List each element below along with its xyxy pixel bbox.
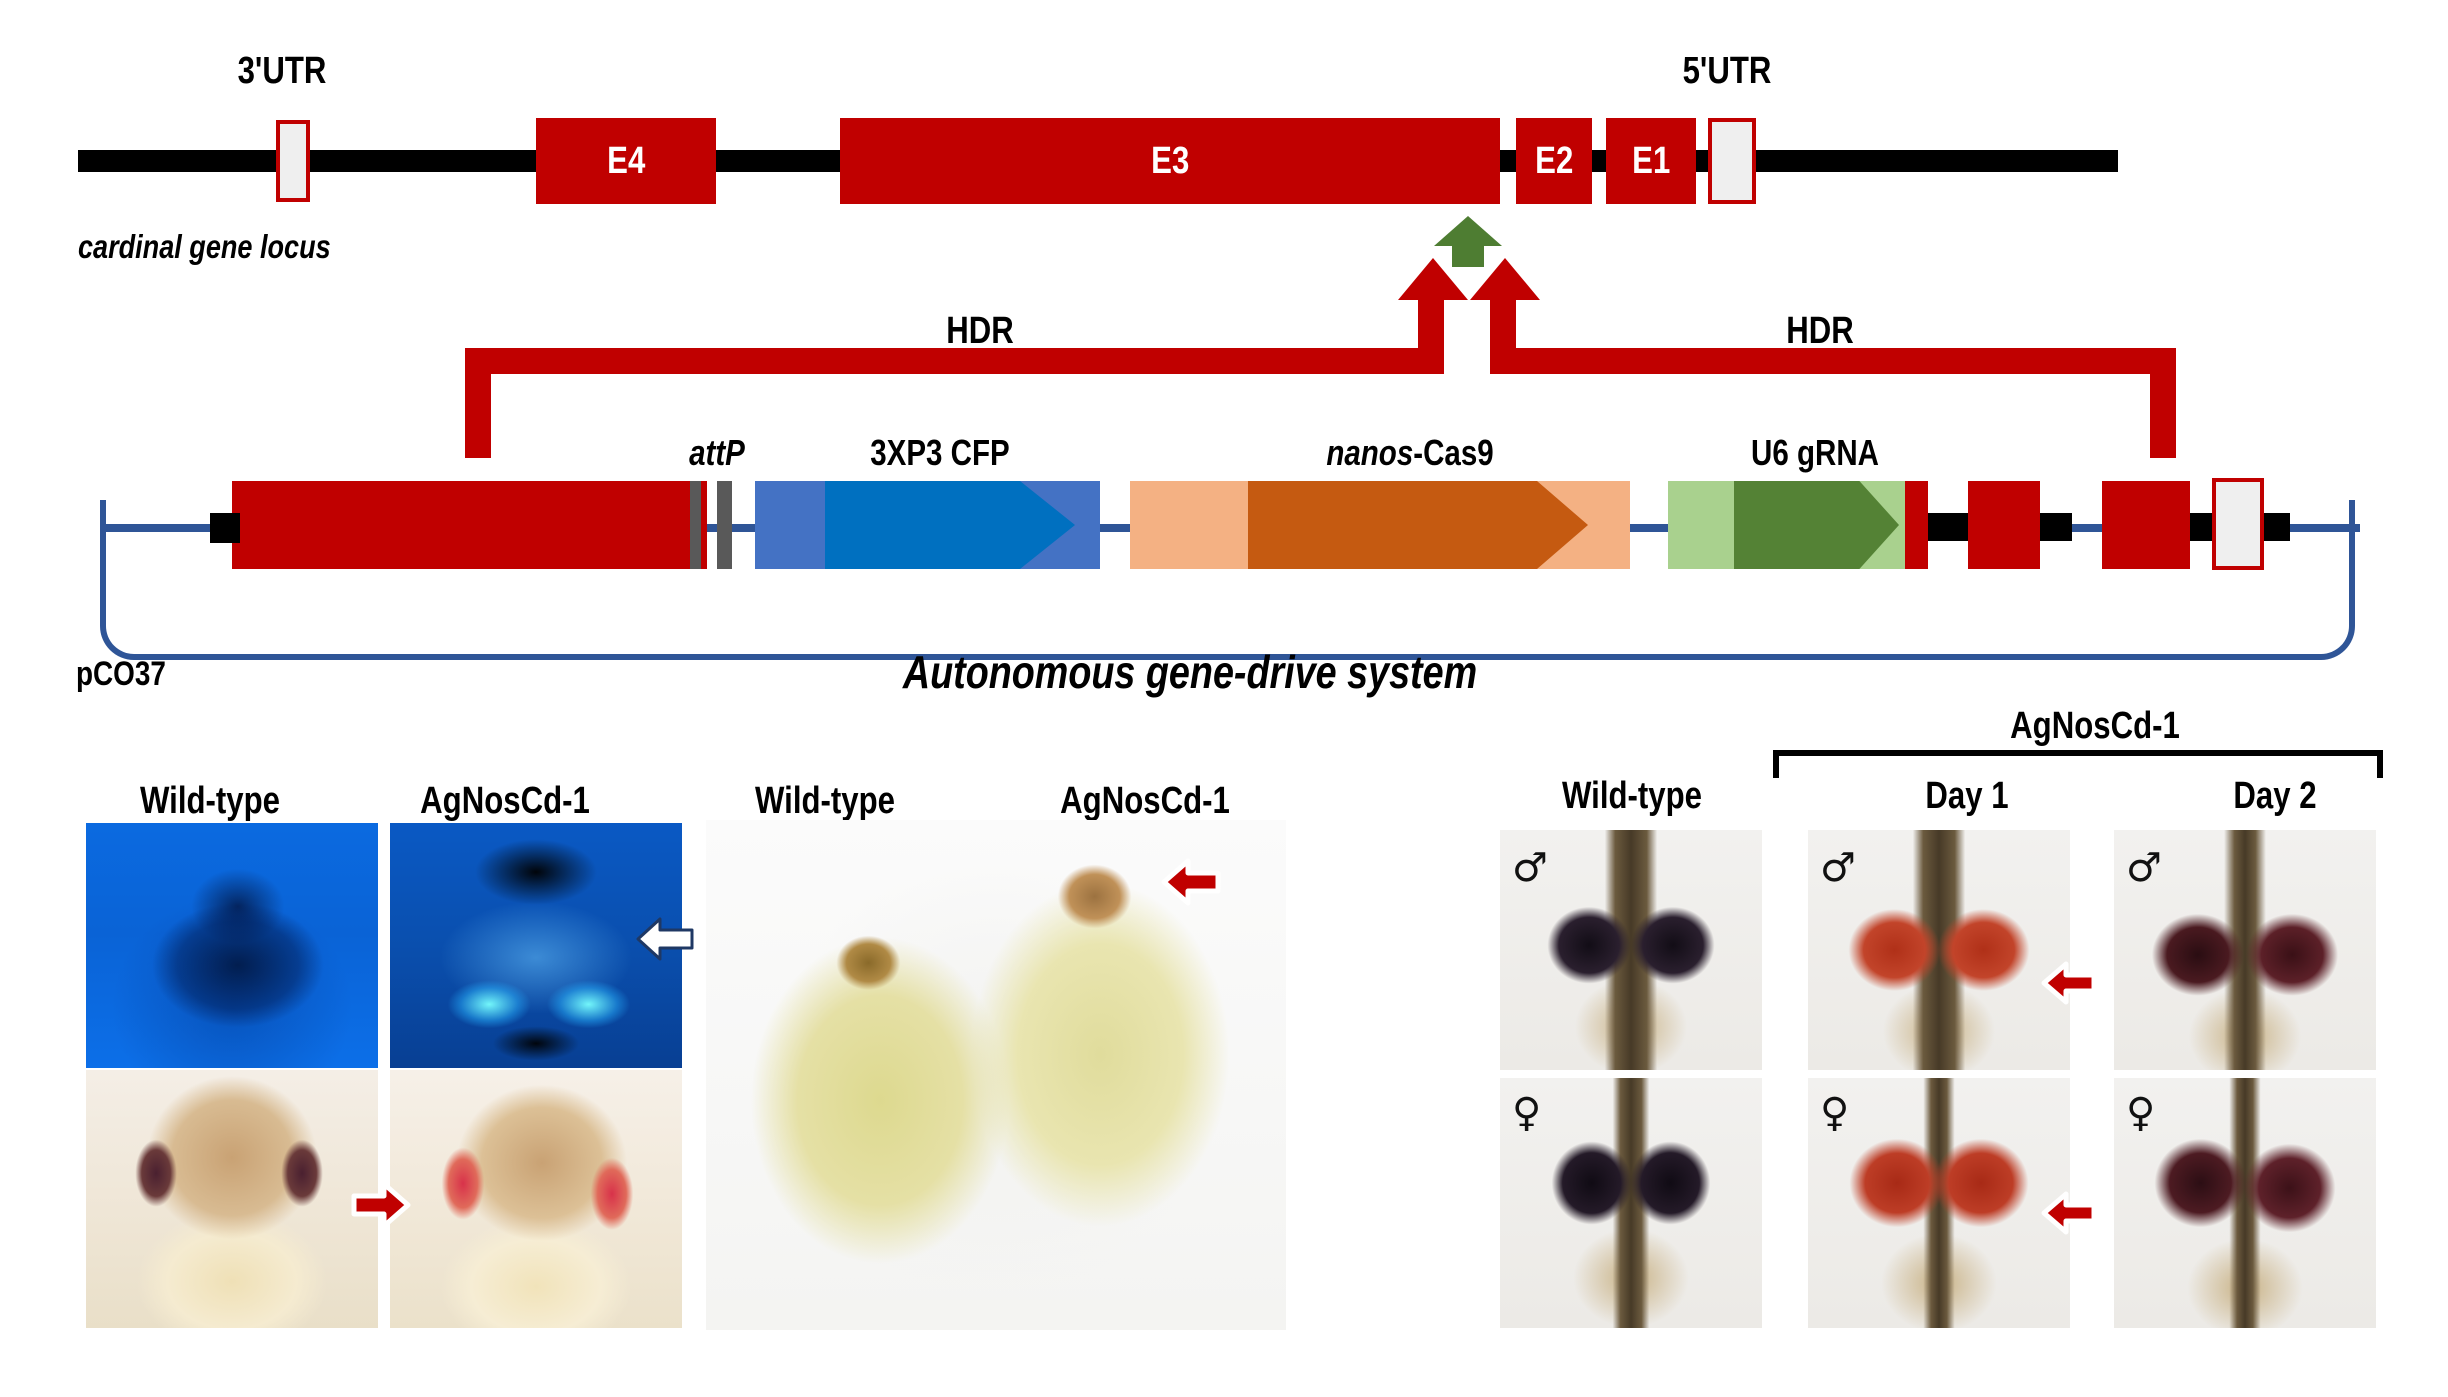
female-symbol-wildtype: ♀ — [1512, 1090, 1541, 1136]
exon-E3-label: E3 — [1151, 140, 1189, 183]
panel-adults-col-day1-label: Day 1 — [1873, 775, 2062, 818]
hdr-left-path-vertical — [465, 348, 491, 458]
cfp-cassette-label: 3XP3 CFP — [817, 432, 1063, 474]
female-symbol-day1: ♀ — [1820, 1090, 1849, 1136]
cfp-white-arrow — [636, 913, 696, 965]
cut-site-green-arrow-head — [1434, 216, 1502, 246]
panel-pupae-col-agnoscd1-label: AgNosCd-1 — [1026, 780, 1264, 823]
panel-pupae-col-wildtype-label: Wild-type — [706, 780, 944, 823]
right-arm-exon-stub-1 — [1905, 481, 1928, 569]
grna-cassette-label: U6 gRNA — [1696, 432, 1934, 474]
utr-3prime-box — [276, 120, 310, 202]
right-arm-black-link-2 — [2040, 513, 2072, 541]
plasmid-name-label: pCO37 — [76, 655, 166, 694]
right-arm-exon-stub-3 — [2102, 481, 2190, 569]
exon-E3: E3 — [840, 118, 1500, 204]
larva-red-arrow — [350, 1178, 412, 1232]
locus-caption: cardinal gene locus — [78, 228, 331, 266]
right-arm-black-link-4 — [2264, 513, 2290, 541]
hdr-label-right: HDR — [1738, 310, 1902, 353]
exon-E4: E4 — [536, 118, 716, 204]
right-arm-black-link-1 — [1928, 513, 1968, 541]
panel-adults-col-day2-label: Day 2 — [2181, 775, 2370, 818]
utr-5prime-box — [1708, 118, 1756, 204]
photo-wildtype-cfp — [86, 823, 378, 1068]
exon-E2: E2 — [1516, 118, 1592, 204]
cas9-cassette-arrow — [1248, 481, 1588, 569]
left-homology-arm-black-tick — [210, 513, 240, 543]
photo-agnoscd1-larva — [390, 1070, 682, 1328]
cas9-label-nanos: nanos — [1326, 432, 1413, 473]
attP-mark-right — [717, 481, 732, 569]
photo-wildtype-larva — [86, 1070, 378, 1328]
male-symbol-wildtype: ♂ — [1512, 845, 1548, 891]
male-symbol-day1: ♂ — [1820, 845, 1856, 891]
cas9-label-suffix: -Cas9 — [1413, 432, 1493, 473]
exon-E1: E1 — [1606, 118, 1696, 204]
attP-mark-left — [690, 481, 701, 569]
construct-utr-box — [2212, 478, 2264, 570]
panel-adults-col-wildtype-label: Wild-type — [1513, 775, 1751, 818]
utr-3prime-label: 3'UTR — [225, 50, 340, 93]
hdr-label-left: HDR — [898, 310, 1062, 353]
hdr-right-arrow-stem — [1490, 299, 1516, 349]
panel-cfp-col-wildtype-label: Wild-type — [99, 780, 320, 823]
male-day1-red-arrow — [2040, 958, 2098, 1008]
system-title: Autonomous gene-drive system — [821, 645, 1559, 699]
female-day1-red-arrow — [2040, 1188, 2098, 1238]
male-symbol-day2: ♂ — [2126, 845, 2162, 891]
panel-adults-bracket — [1773, 750, 2383, 778]
pupae-red-arrow — [1160, 855, 1222, 909]
exon-E4-label: E4 — [607, 140, 645, 183]
utr-5prime-label: 5'UTR — [1666, 50, 1789, 93]
panel-cfp-col-agnoscd1-label: AgNosCd-1 — [386, 780, 624, 823]
panel-adults-group-label: AgNosCd-1 — [1956, 705, 2235, 748]
right-arm-exon-stub-2 — [1968, 481, 2040, 569]
female-symbol-day2: ♀ — [2126, 1090, 2155, 1136]
left-homology-arm — [232, 481, 707, 569]
hdr-right-path-vertical — [2150, 348, 2176, 458]
attP-label: attP — [664, 432, 771, 474]
cas9-cassette-label: nanos-Cas9 — [1262, 432, 1557, 474]
exon-E2-label: E2 — [1535, 140, 1573, 183]
hdr-left-arrow-head — [1398, 258, 1468, 300]
hdr-left-arrow-stem — [1418, 299, 1444, 349]
right-arm-black-link-3 — [2190, 513, 2212, 541]
hdr-right-arrow-head — [1470, 258, 1540, 300]
exon-E1-label: E1 — [1632, 140, 1670, 183]
